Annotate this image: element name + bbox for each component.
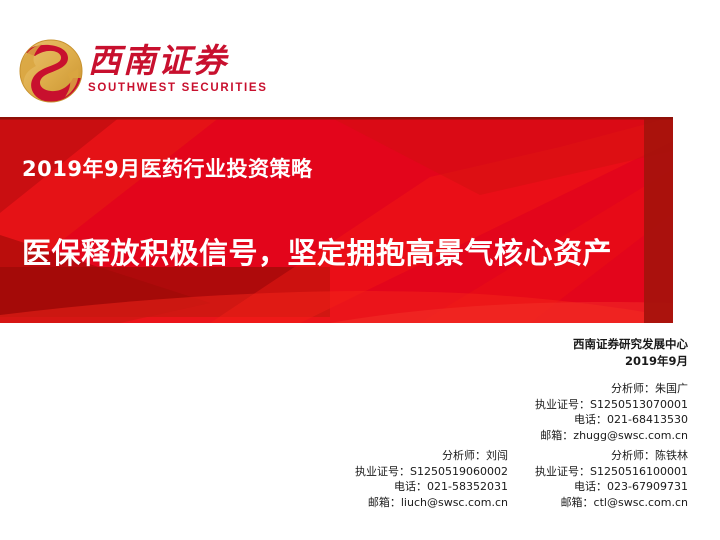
analyst-third-name: 分析师：陈铁林 <box>498 448 688 464</box>
organization-name: 西南证券研究发展中心 <box>573 336 688 353</box>
swirl-circle-logo-icon <box>18 38 84 104</box>
logo-company-name-en: SOUTHWEST SECURITIES <box>88 81 268 95</box>
analyst-second-license: 执业证号：S1250519060002 <box>258 464 508 480</box>
banner-title: 2019年9月医药行业投资策略 <box>22 153 313 183</box>
analyst-third-email[interactable]: 邮箱：ctl@swsc.com.cn <box>498 495 688 511</box>
analyst-second-name: 分析师：刘闯 <box>258 448 508 464</box>
analyst-third-block: 分析师：陈铁林 执业证号：S1250516100001 电话：023-67909… <box>498 448 688 510</box>
logo-wordmark: 西南证券 SOUTHWEST SECURITIES <box>88 42 268 95</box>
banner-background-graphic <box>0 117 673 323</box>
analyst-second-phone: 电话：021-58352031 <box>258 479 508 495</box>
banner-top-rule <box>0 117 673 119</box>
report-date: 2019年9月 <box>573 353 688 370</box>
analyst-second-block: 分析师：刘闯 执业证号：S1250519060002 电话：021-583520… <box>258 448 508 510</box>
presentation-cover-slide: 西南证券 SOUTHWEST SECURITIES 2019年9月医药行业投资 <box>0 0 720 540</box>
company-logo: 西南证券 SOUTHWEST SECURITIES <box>14 36 274 110</box>
analyst-third-license: 执业证号：S1250516100001 <box>498 464 688 480</box>
analyst-primary-name: 分析师：朱国广 <box>428 381 688 397</box>
logo-company-name-cn: 西南证券 <box>88 42 268 80</box>
analyst-primary-block: 分析师：朱国广 执业证号：S1250513070001 电话：021-68413… <box>428 381 688 443</box>
organization-block: 西南证券研究发展中心 2019年9月 <box>573 336 688 370</box>
analyst-third-phone: 电话：023-67909731 <box>498 479 688 495</box>
analyst-second-email[interactable]: 邮箱：liuch@swsc.com.cn <box>258 495 508 511</box>
title-banner <box>0 117 673 323</box>
analyst-primary-phone: 电话：021-68413530 <box>428 412 688 428</box>
banner-subtitle: 医保释放积极信号，坚定拥抱高景气核心资产 <box>22 230 612 272</box>
analyst-primary-license: 执业证号：S1250513070001 <box>428 397 688 413</box>
analyst-primary-email[interactable]: 邮箱：zhugg@swsc.com.cn <box>428 428 688 444</box>
